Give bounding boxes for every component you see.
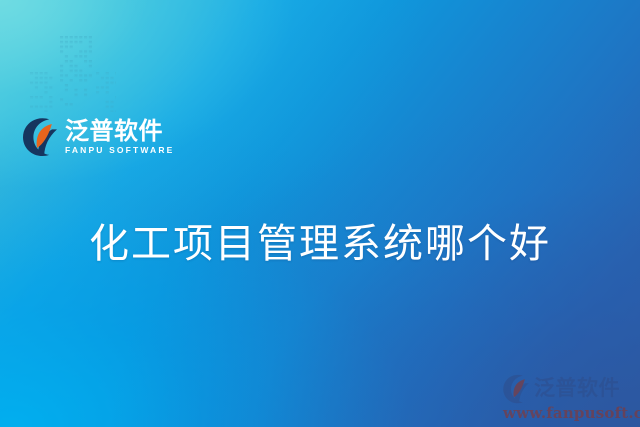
watermark: 泛普软件 www.fanpusoft.com [498,374,638,422]
brand-wordblock: 泛普软件 FANPU SOFTWARE [65,119,174,156]
fanpu-logo-mark-watermark-icon [502,374,530,404]
promo-banner: 泛普软件 FANPU SOFTWARE 化工项目管理系统哪个好 泛普软件 www… [0,0,640,427]
brand-name-en: FANPU SOFTWARE [65,145,174,156]
brand-name-cn: 泛普软件 [65,119,174,144]
watermark-logo-row: 泛普软件 [498,374,638,404]
brand-logo: 泛普软件 FANPU SOFTWARE [22,117,174,157]
watermark-name-cn: 泛普软件 [534,378,620,399]
fanpu-logo-mark-icon [22,117,58,157]
page-title: 化工项目管理系统哪个好 [0,220,640,268]
pixel-bars-decoration-icon [30,30,116,112]
watermark-url: www.fanpusoft.com [498,405,638,422]
